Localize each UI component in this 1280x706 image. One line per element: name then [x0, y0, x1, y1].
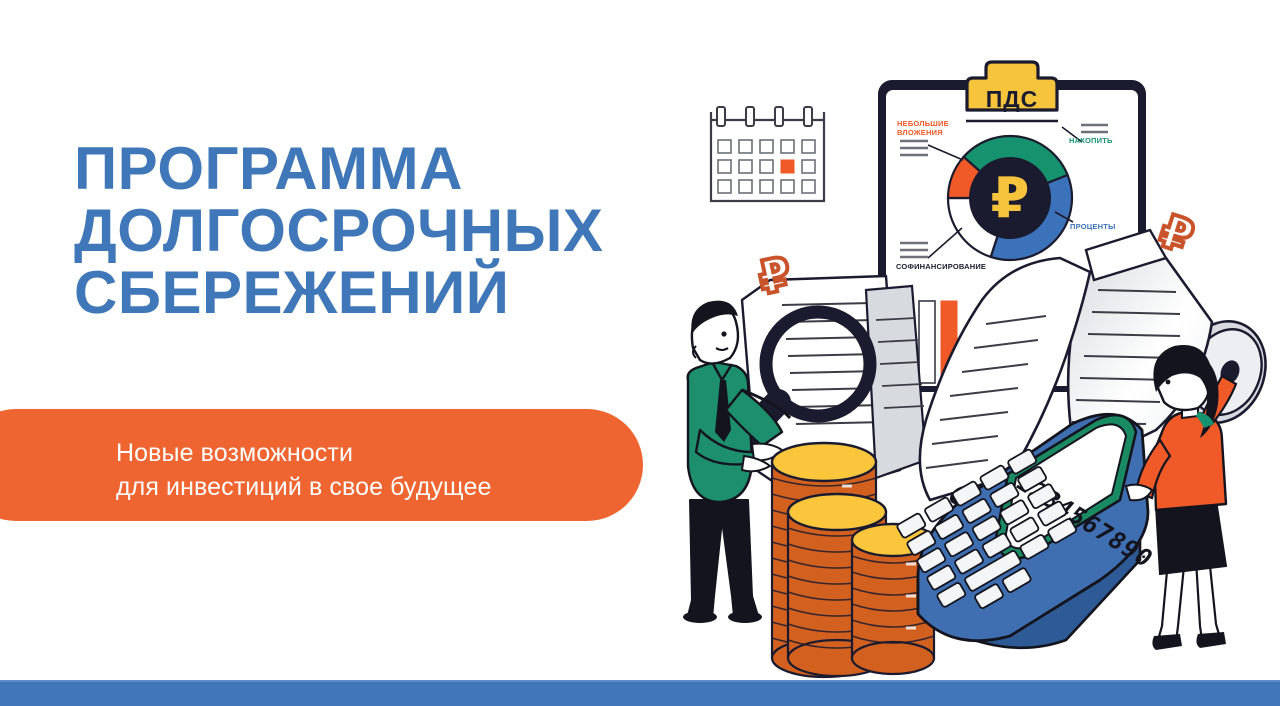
footer-bar — [0, 682, 1280, 706]
poster-canvas: ₽ — [0, 0, 1280, 706]
subtitle-text: Новые возможности для инвестиций в свое … — [116, 436, 676, 504]
clipboard-title: ПДС — [966, 86, 1058, 113]
chart-label-percent: ПРОЦЕНТЫ — [1070, 222, 1150, 231]
chart-label-accumulate: НАКОПИТЬ — [1069, 136, 1149, 145]
donut-chart: ₽ — [948, 136, 1072, 260]
calendar-icon — [711, 107, 824, 201]
svg-text:₽: ₽ — [991, 166, 1030, 231]
chart-label-cofinancing: СОФИНАНСИРОВАНИЕ — [896, 262, 1006, 271]
illustration: ₽ — [0, 0, 1280, 706]
ruble-symbol-right: ₽ — [1153, 203, 1200, 264]
svg-text:₽: ₽ — [1153, 203, 1200, 264]
page-title: ПРОГРАММА ДОЛГОСРОЧНЫХ СБЕРЕЖЕНИЙ — [74, 138, 694, 324]
chart-label-small-investments: НЕБОЛЬШИЕ ВЛОЖЕНИЯ — [897, 119, 981, 137]
